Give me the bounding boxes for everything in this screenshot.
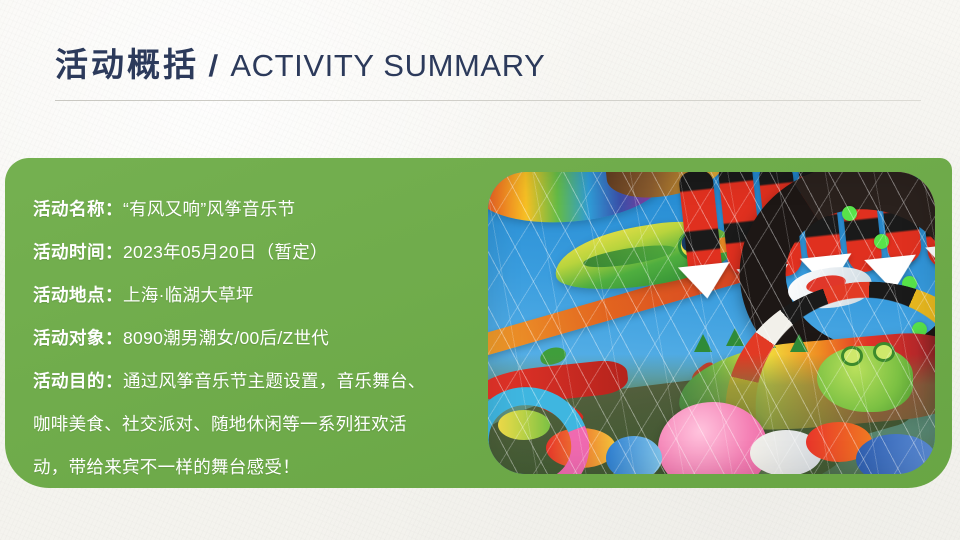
- activity-summary-panel: 活动名称：“有风又响”风筝音乐节 活动时间：2023年05月20日（暂定） 活动…: [5, 158, 952, 488]
- page-title-chinese: 活动概括: [55, 46, 199, 84]
- info-value: 通过风筝音乐节主题设置，音乐舞台、: [123, 371, 426, 391]
- info-value: 8090潮男潮女/00后/Z世代: [123, 328, 329, 348]
- page-header: 活动概括 / ACTIVITY SUMMARY: [55, 46, 921, 84]
- info-row-activity-audience: 活动对象：8090潮男潮女/00后/Z世代: [33, 317, 488, 360]
- kite-strings-overlay: [488, 172, 935, 474]
- info-value: “有风又响”风筝音乐节: [123, 199, 295, 219]
- header-divider-line: [55, 100, 921, 101]
- info-label: 活动名称：: [33, 199, 123, 219]
- info-row-activity-purpose: 活动目的：通过风筝音乐节主题设置，音乐舞台、: [33, 360, 488, 403]
- info-label: 活动目的：: [33, 371, 123, 391]
- info-row-activity-time: 活动时间：2023年05月20日（暂定）: [33, 231, 488, 274]
- activity-info-list: 活动名称：“有风又响”风筝音乐节 活动时间：2023年05月20日（暂定） 活动…: [33, 188, 488, 488]
- title-separator-slash: /: [208, 50, 219, 84]
- page-title-english: ACTIVITY SUMMARY: [230, 48, 545, 84]
- kite-festival-photo: [488, 172, 935, 474]
- info-value: 2023年05月20日（暂定）: [123, 242, 328, 262]
- info-label: 活动对象：: [33, 328, 123, 348]
- info-value: 上海·临湖大草坪: [123, 285, 254, 305]
- info-row-activity-location: 活动地点：上海·临湖大草坪: [33, 274, 488, 317]
- info-purpose-continuation-line-1: 咖啡美食、社交派对、随地休闲等一系列狂欢活: [33, 403, 488, 446]
- info-row-activity-name: 活动名称：“有风又响”风筝音乐节: [33, 188, 488, 231]
- slide-canvas: 活动概括 / ACTIVITY SUMMARY 活动名称：“有风又响”风筝音乐节…: [0, 0, 960, 540]
- info-label: 活动时间：: [33, 242, 123, 262]
- info-label: 活动地点：: [33, 285, 123, 305]
- info-purpose-continuation-line-2: 动，带给来宾不一样的舞台感受！: [33, 446, 488, 488]
- page-title: 活动概括 / ACTIVITY SUMMARY: [55, 46, 921, 84]
